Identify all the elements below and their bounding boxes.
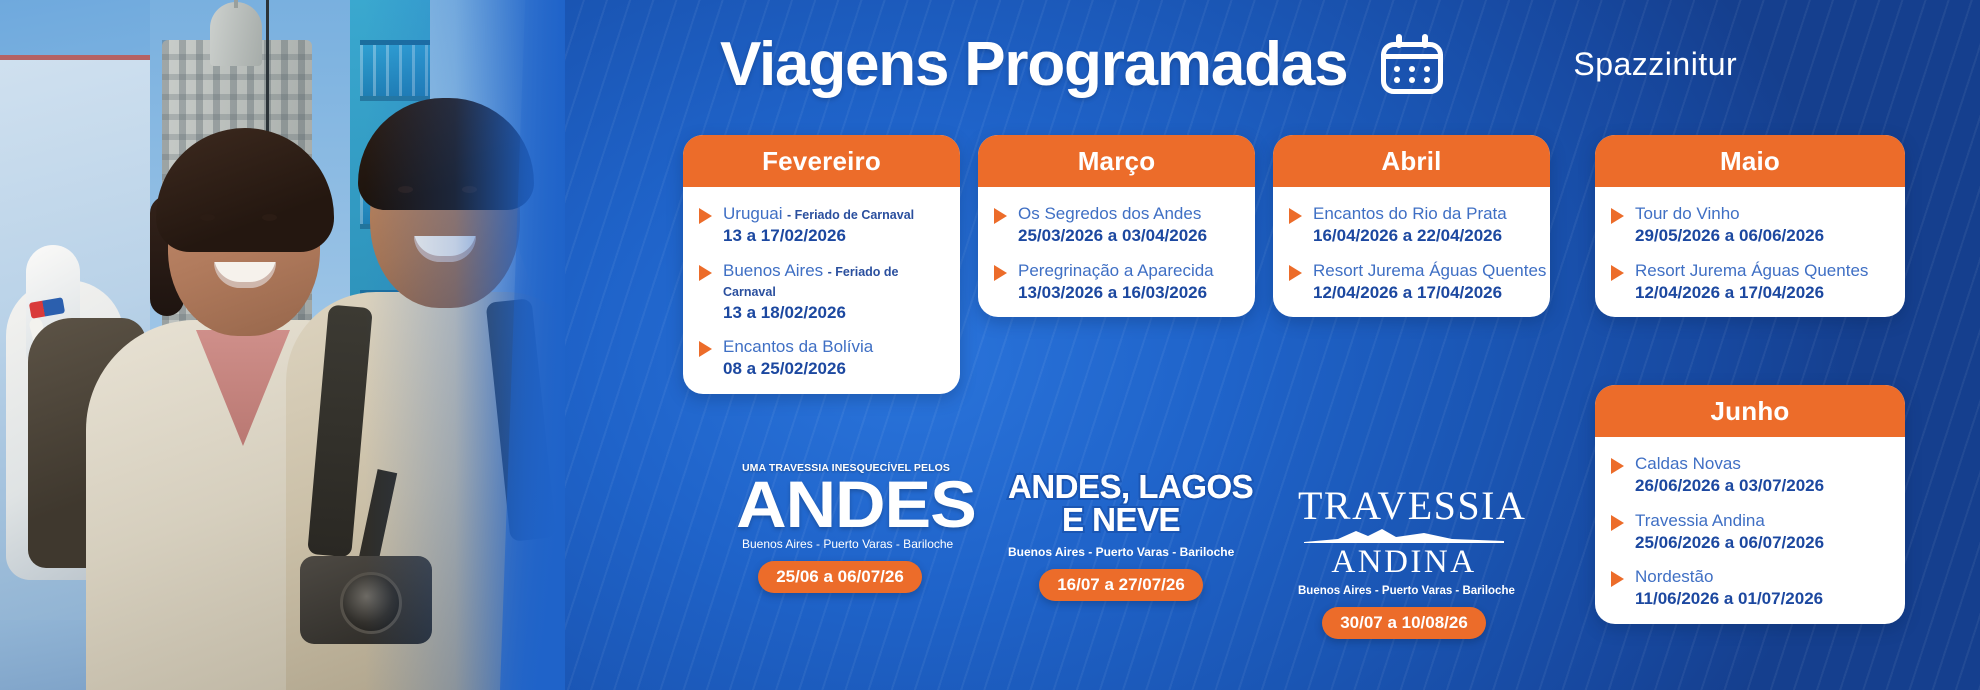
tour-logo-andes[interactable]: UMA TRAVESSIA INESQUECÍVEL PELOS ANDES B… (742, 462, 938, 593)
lagos-date-badge[interactable]: 16/07 a 27/07/26 (1039, 569, 1203, 601)
mountain-range-icon (1298, 527, 1510, 543)
tour-logo-travessia-andina[interactable]: TRAVESSIA ANDINA Buenos Aires - Puerto V… (1298, 486, 1510, 639)
promo-banner: Viagens Programadas Spazzinitur Fevereir… (0, 0, 1980, 690)
travessia-route: Buenos Aires - Puerto Varas - Bariloche (1298, 585, 1510, 597)
travessia-date-badge[interactable]: 30/07 a 10/08/26 (1322, 607, 1486, 639)
tour-logo-andes-lagos-neve[interactable]: ANDES, LAGOS E NEVE Buenos Aires - Puert… (1008, 470, 1234, 601)
lagos-route: Buenos Aires - Puerto Varas - Bariloche (1008, 545, 1234, 559)
andina-wordmark: ANDINA (1298, 545, 1510, 580)
tour-logos: UMA TRAVESSIA INESQUECÍVEL PELOS ANDES B… (0, 0, 1980, 690)
travessia-wordmark: TRAVESSIA (1298, 486, 1510, 526)
andes-wordmark: ANDES (736, 474, 944, 535)
lagos-wordmark-line2: E NEVE (1008, 503, 1234, 536)
andes-date-badge[interactable]: 25/06 a 06/07/26 (758, 561, 922, 593)
lagos-wordmark-line1: ANDES, LAGOS (1008, 470, 1234, 503)
